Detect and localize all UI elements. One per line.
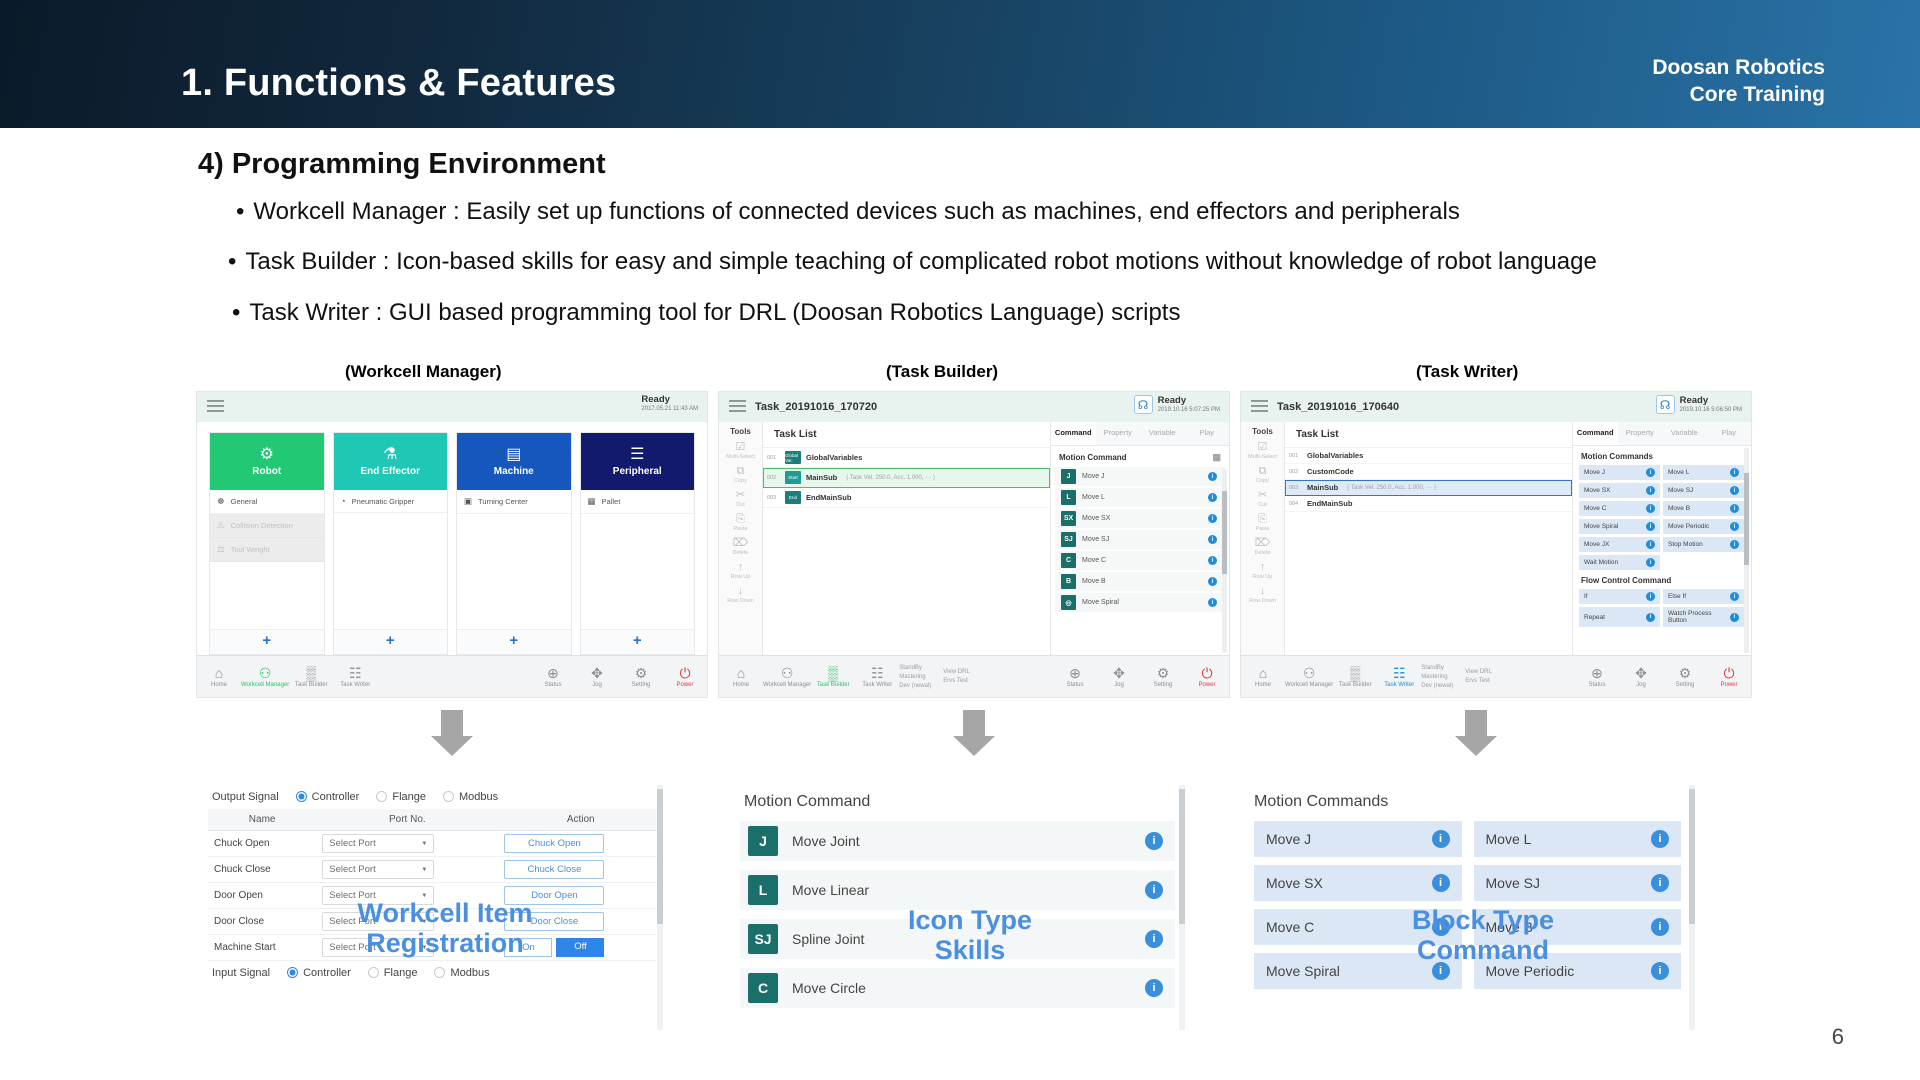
- command-row[interactable]: CMove Ci: [1055, 551, 1225, 570]
- tb-tools-panel: Tools ☑Multi-Select⧉Copy✂Cut⎘Paste⌦Delet…: [719, 422, 763, 655]
- task-row-number: 004: [1289, 501, 1302, 507]
- brand-line-1: Doosan Robotics: [1652, 55, 1825, 82]
- task-list-row[interactable]: 003MainSub( Task Vel. 250.0, Acc. 1.000,…: [1285, 480, 1572, 496]
- wcm-card-item[interactable]: ☸General: [210, 490, 324, 514]
- command-block[interactable]: Move Li: [1663, 465, 1744, 480]
- tw-tools-header: Tools: [1252, 427, 1273, 436]
- nav-status-text: View DRL: [1465, 669, 1492, 675]
- command-label: Move C: [1082, 557, 1202, 564]
- task-row-meta: ( Task Vel. 250.0, Acc. 1.000, ··· ): [1347, 485, 1436, 491]
- task-row-name: CustomCode: [1307, 467, 1354, 476]
- brand-line-2: Core Training: [1652, 82, 1825, 109]
- peripheral-icon: ☰: [630, 447, 644, 463]
- nav-item-home[interactable]: ⌂Home: [197, 666, 241, 688]
- tw-flow-header: Flow Control Command: [1573, 570, 1751, 589]
- nav-item-task-writer[interactable]: ☷Task Writer: [1377, 666, 1421, 688]
- command-block[interactable]: Wait Motioni: [1579, 555, 1660, 570]
- tb-scrollbar[interactable]: [1222, 469, 1227, 653]
- wcm-card-item[interactable]: ▣Turning Center: [457, 490, 571, 514]
- command-row[interactable]: LMove Li: [1055, 488, 1225, 507]
- wcm-card-header[interactable]: ☰Peripheral: [581, 433, 695, 490]
- tb-section-header: Motion Command ▦: [1051, 446, 1229, 467]
- wcm-card-title: Peripheral: [613, 466, 662, 477]
- nav-item-label: Status: [544, 682, 561, 688]
- nav-item-status[interactable]: ⊕Status: [1575, 666, 1619, 688]
- command-block[interactable]: Move SJi: [1663, 483, 1744, 498]
- tb-status-time: 2019.10.16 5:07:25 PM: [1158, 407, 1220, 414]
- port-select[interactable]: Select Port▼: [322, 834, 434, 853]
- move-spiral-icon: ◎: [1061, 595, 1076, 610]
- task-row-name: MainSub: [806, 473, 837, 482]
- info-icon[interactable]: i: [1730, 592, 1739, 601]
- tool-multi-select[interactable]: ☑Multi-Select: [1248, 442, 1277, 460]
- bullet-text: Task Writer : GUI based programming tool…: [249, 299, 1180, 326]
- nav-item-label: Task Writer: [1384, 682, 1414, 688]
- wcm-status: Ready 2017.05.21 11:43 AM: [641, 395, 698, 413]
- tw-command-list[interactable]: Motion Commands Move JiMove LiMove SXiMo…: [1573, 446, 1751, 655]
- nav-item-task-builder[interactable]: ▒Task Builder: [1333, 666, 1377, 688]
- hamburger-menu-icon[interactable]: [1251, 400, 1268, 415]
- radio-flange-output[interactable]: Flange: [376, 791, 426, 803]
- tool-cut[interactable]: ✂Cut: [726, 490, 755, 508]
- wcm-card-item[interactable]: ⚠Collision Detection: [210, 514, 324, 538]
- info-icon[interactable]: i: [1646, 468, 1655, 477]
- row-down-icon: ↓: [1260, 586, 1266, 597]
- task-list-row[interactable]: 001GlobalVariables: [1285, 448, 1572, 464]
- info-icon[interactable]: i: [1208, 556, 1217, 565]
- tab-command[interactable]: Command: [1051, 422, 1096, 445]
- paste-icon: ⎘: [1258, 514, 1267, 525]
- item-icon: ⚠: [217, 520, 225, 531]
- task-list-row[interactable]: 003EndEndMainSub: [763, 488, 1050, 508]
- tool-row-up[interactable]: ↑Row Up: [1248, 562, 1277, 580]
- radio-label: Controller: [303, 967, 351, 979]
- radio-label: Controller: [312, 791, 360, 803]
- tab-variable[interactable]: Variable: [1662, 422, 1707, 445]
- tb-tasklist-panel: Task List 001Global Var.GlobalVariables0…: [763, 422, 1051, 655]
- tw-scrollbar[interactable]: [1744, 448, 1749, 653]
- item-label: Pneumatic Gripper: [352, 497, 415, 506]
- action-button[interactable]: Chuck Close: [504, 860, 604, 879]
- page-title: 1. Functions & Features: [181, 62, 616, 105]
- tw-tasklist-panel: Task List 001GlobalVariables002CustomCod…: [1285, 422, 1573, 655]
- nav-item-task-builder[interactable]: ▒Task Builder: [811, 666, 855, 688]
- nav-item-task-builder[interactable]: ▒Task Builder: [289, 666, 333, 688]
- nav-status-text: Ervs Test: [943, 678, 970, 684]
- nav-item-task-writer[interactable]: ☷Task Writer: [855, 666, 899, 688]
- info-icon[interactable]: i: [1730, 504, 1739, 513]
- wcm-add-button[interactable]: +: [457, 629, 571, 654]
- command-block[interactable]: Ifi: [1579, 589, 1660, 604]
- wcm-card[interactable]: ☰Peripheral▦Pallet+: [580, 432, 696, 655]
- info-icon[interactable]: i: [1145, 979, 1163, 997]
- command-block[interactable]: Move JXi: [1579, 537, 1660, 552]
- nav-item-label: Power: [676, 682, 693, 688]
- command-block-label: Move SJ: [1486, 875, 1540, 891]
- tb-status-label: Ready: [1158, 396, 1220, 407]
- info-icon[interactable]: i: [1432, 830, 1450, 848]
- motion-command-row[interactable]: CMove Circlei: [740, 968, 1175, 1008]
- off-button[interactable]: Off: [556, 938, 604, 957]
- tool-copy[interactable]: ⧉Copy: [726, 466, 755, 484]
- down-arrow-icon: [1455, 710, 1497, 756]
- info-icon[interactable]: i: [1651, 874, 1669, 892]
- wcm-status-label: Ready: [641, 395, 698, 406]
- radio-modbus-output[interactable]: Modbus: [443, 791, 498, 803]
- command-block[interactable]: Move SJi: [1474, 865, 1682, 901]
- port-select-value: Select Port: [329, 838, 375, 849]
- command-block-label: Move SX: [1584, 487, 1610, 494]
- move-sj-icon: SJ: [1061, 532, 1076, 547]
- task-list-row[interactable]: 002StartMainSub( Task Vel. 250.0, Acc. 1…: [763, 468, 1050, 488]
- tool-label: Row Down: [727, 598, 754, 604]
- tb-tasklist-header: Task List: [763, 422, 1050, 448]
- tool-label: Cut: [1258, 502, 1267, 508]
- radio-controller-input[interactable]: Controller: [287, 967, 351, 979]
- tab-play[interactable]: Play: [1707, 422, 1752, 445]
- nav-item-label: Task Builder: [1339, 682, 1372, 688]
- info-icon[interactable]: i: [1208, 535, 1217, 544]
- command-block-label: Move J: [1584, 469, 1605, 476]
- command-block-label: Move L: [1486, 831, 1532, 847]
- info-icon[interactable]: i: [1208, 493, 1217, 502]
- workcell-manager-icon: ⚇: [781, 666, 794, 680]
- command-block[interactable]: Move Ji: [1579, 465, 1660, 480]
- info-icon[interactable]: i: [1730, 540, 1739, 549]
- nav-item-label: Setting: [1154, 682, 1173, 688]
- motion-command-row[interactable]: LMove Lineari: [740, 870, 1175, 910]
- task-writer-icon: ☷: [349, 666, 362, 680]
- item-icon: ◔: [341, 496, 346, 506]
- tool-label: Delete: [1255, 550, 1271, 556]
- nav-status-text: Dev (newal): [899, 683, 931, 689]
- tw-status: ☊ Ready 2019.10.16 5:06:50 PM: [1656, 395, 1742, 414]
- move-sx-icon: SX: [1061, 511, 1076, 526]
- item-icon: ☸: [217, 496, 225, 507]
- tool-label: Delete: [733, 550, 749, 556]
- robot-status-icon: ☊: [1134, 395, 1153, 414]
- command-label: Move L: [1082, 494, 1202, 501]
- nav-item-setting[interactable]: ⚙Setting: [1663, 666, 1707, 688]
- hamburger-menu-icon[interactable]: [729, 400, 746, 415]
- info-icon[interactable]: i: [1646, 540, 1655, 549]
- tool-label: Paste: [733, 526, 747, 532]
- info-icon[interactable]: i: [1730, 486, 1739, 495]
- tab-command[interactable]: Command: [1573, 422, 1618, 445]
- wcm-add-button[interactable]: +: [581, 629, 695, 654]
- wcm-card[interactable]: ⚙Robot☸General⚠Collision Detection⚖Tool …: [209, 432, 325, 655]
- command-block[interactable]: Move Periodici: [1663, 519, 1744, 534]
- tool-paste[interactable]: ⎘Paste: [1248, 514, 1277, 532]
- tb-task-title: Task_20191016_170720: [755, 401, 877, 413]
- cell-name: Machine Start: [208, 935, 316, 961]
- cell-name: Chuck Close: [208, 857, 316, 883]
- tab-property[interactable]: Property: [1096, 422, 1141, 445]
- setting-icon: ⚙: [635, 666, 648, 680]
- command-block[interactable]: Move Ji: [1254, 821, 1462, 857]
- item-label: Pallet: [602, 497, 621, 506]
- command-block-label: Move SJ: [1668, 487, 1693, 494]
- row-down-icon: ↓: [738, 586, 744, 597]
- info-icon[interactable]: i: [1208, 598, 1217, 607]
- tb-command-panel: CommandPropertyVariablePlay Motion Comma…: [1051, 422, 1229, 655]
- tb-tab-strip: CommandPropertyVariablePlay: [1051, 422, 1229, 446]
- radio-label: Modbus: [459, 791, 498, 803]
- nav-item-workcell-manager[interactable]: ⚇Workcell Manager: [763, 666, 811, 688]
- nav-item-jog[interactable]: ✥Jog: [1619, 666, 1663, 688]
- detail1-scrollbar[interactable]: [657, 785, 663, 1030]
- item-icon: ⚖: [217, 544, 225, 555]
- tb-status: ☊ Ready 2019.10.16 5:07:25 PM: [1134, 395, 1220, 414]
- tool-label: Row Up: [731, 574, 751, 580]
- workcell-manager-icon: ⚇: [1303, 666, 1316, 680]
- delete-icon: ⌦: [733, 538, 749, 549]
- tool-delete[interactable]: ⌦Delete: [726, 538, 755, 556]
- motion-command-row[interactable]: JMove Jointi: [740, 821, 1175, 861]
- cell-name: Chuck Open: [208, 831, 316, 857]
- move-circle-icon: C: [748, 973, 778, 1003]
- item-icon: ▦: [588, 496, 596, 507]
- cut-icon: ✂: [736, 490, 745, 501]
- bullet-task-builder: •Task Builder : Icon-based skills for ea…: [228, 248, 1597, 276]
- nav-item-workcell-manager[interactable]: ⚇Workcell Manager: [241, 666, 289, 688]
- info-icon[interactable]: i: [1646, 522, 1655, 531]
- cell-name: Door Close: [208, 909, 316, 935]
- item-label: General: [231, 497, 258, 506]
- task-row-number: 003: [1289, 485, 1302, 491]
- tab-property[interactable]: Property: [1618, 422, 1663, 445]
- wcm-card-item[interactable]: ▦Pallet: [581, 490, 695, 514]
- tool-row-down[interactable]: ↓Row Down: [1248, 586, 1277, 604]
- nav-item-power[interactable]: ⏻Power: [663, 666, 707, 688]
- motion-command-label: Move Joint: [792, 833, 1131, 849]
- nav-item-workcell-manager[interactable]: ⚇Workcell Manager: [1285, 666, 1333, 688]
- tab-play[interactable]: Play: [1185, 422, 1230, 445]
- tw-bottom-nav: ⌂Home⚇Workcell Manager▒Task Builder☷Task…: [1241, 655, 1751, 697]
- wcm-card-header[interactable]: ⚗End Effector: [334, 433, 448, 490]
- command-block-label: Move Spiral: [1266, 963, 1340, 979]
- command-block-label: Move C: [1266, 919, 1314, 935]
- bullet-marker: •: [236, 198, 244, 226]
- tool-cut[interactable]: ✂Cut: [1248, 490, 1277, 508]
- radio-label: Flange: [392, 791, 426, 803]
- info-icon[interactable]: i: [1208, 514, 1217, 523]
- command-block[interactable]: Else Ifi: [1663, 589, 1744, 604]
- move-j-icon: J: [1061, 469, 1076, 484]
- nav-item-jog[interactable]: ✥Jog: [1097, 666, 1141, 688]
- output-signal-row: Output Signal Controller Flange Modbus: [208, 785, 663, 809]
- tw-motion-header: Motion Commands: [1573, 446, 1751, 465]
- nav-item-label: Jog: [1114, 682, 1124, 688]
- slide-header: 1. Functions & Features Doosan Robotics …: [0, 0, 1920, 128]
- table-row: Chuck CloseSelect Port▼Chuck Close: [208, 857, 663, 883]
- command-block[interactable]: Watch Process Buttoni: [1663, 607, 1744, 627]
- info-icon[interactable]: i: [1145, 832, 1163, 850]
- workcell-manager-icon: ⚇: [259, 666, 272, 680]
- nav-item-task-writer[interactable]: ☷Task Writer: [333, 666, 377, 688]
- tb-topbar: Task_20191016_170720 ☊ Ready 2019.10.16 …: [719, 392, 1229, 422]
- info-icon[interactable]: i: [1145, 881, 1163, 899]
- wcm-add-button[interactable]: +: [210, 629, 324, 654]
- command-block-label: Move J: [1266, 831, 1311, 847]
- tool-multi-select[interactable]: ☑Multi-Select: [726, 442, 755, 460]
- wcm-status-time: 2017.05.21 11:43 AM: [641, 406, 698, 413]
- task-list-row[interactable]: 002CustomCode: [1285, 464, 1572, 480]
- wcm-card-title: Robot: [252, 466, 281, 477]
- task-list-row[interactable]: 004EndMainSub: [1285, 496, 1572, 512]
- wcm-card[interactable]: ⚗End Effector◔Pneumatic Gripper+: [333, 432, 449, 655]
- home-icon: ⌂: [215, 666, 223, 680]
- wcm-card-title: Machine: [494, 466, 534, 477]
- home-icon: ⌂: [1259, 666, 1267, 680]
- nav-item-label: Task Writer: [340, 682, 370, 688]
- copy-icon: ⧉: [1259, 466, 1267, 477]
- command-label: Move SJ: [1082, 536, 1202, 543]
- nav-item-status[interactable]: ⊕Status: [531, 666, 575, 688]
- action-button[interactable]: Chuck Open: [504, 834, 604, 853]
- command-block[interactable]: Move Li: [1474, 821, 1682, 857]
- screenshot-task-writer: Task_20191016_170640 ☊ Ready 2019.10.16 …: [1240, 391, 1752, 698]
- info-icon[interactable]: i: [1208, 577, 1217, 586]
- nav-item-label: Setting: [1676, 682, 1695, 688]
- annotation-block-type-command: Block Type Command: [1378, 905, 1588, 965]
- setting-icon: ⚙: [1157, 666, 1170, 680]
- delete-icon: ⌦: [1255, 538, 1271, 549]
- info-icon[interactable]: i: [1646, 504, 1655, 513]
- nav-item-power[interactable]: ⏻Power: [1185, 666, 1229, 688]
- tool-row-up[interactable]: ↑Row Up: [726, 562, 755, 580]
- info-icon[interactable]: i: [1646, 613, 1655, 622]
- down-arrow-icon: [953, 710, 995, 756]
- nav-status-text: StandBy: [899, 665, 931, 671]
- caption-workcell-manager: (Workcell Manager): [345, 362, 502, 382]
- tool-copy[interactable]: ⧉Copy: [1248, 466, 1277, 484]
- nav-item-label: Task Builder: [817, 682, 850, 688]
- output-signal-label: Output Signal: [212, 791, 279, 803]
- port-select[interactable]: Select Port▼: [322, 860, 434, 879]
- cut-icon: ✂: [1258, 490, 1267, 501]
- info-icon[interactable]: i: [1651, 962, 1669, 980]
- grid-view-icon[interactable]: ▦: [1212, 452, 1221, 463]
- task-row-number: 001: [1289, 453, 1302, 459]
- nav-item-status[interactable]: ⊕Status: [1053, 666, 1097, 688]
- spline-joint-icon: SJ: [748, 924, 778, 954]
- command-row[interactable]: JMove Ji: [1055, 467, 1225, 486]
- detail2-scrollbar[interactable]: [1179, 785, 1185, 1030]
- tw-body: Tools ☑Multi-Select⧉Copy✂Cut⎘Paste⌦Delet…: [1241, 422, 1751, 655]
- command-block-label: Wait Motion: [1584, 559, 1618, 566]
- command-row[interactable]: BMove Bi: [1055, 572, 1225, 591]
- command-label: Move Spiral: [1082, 599, 1202, 606]
- command-block[interactable]: Move SXi: [1579, 483, 1660, 498]
- radio-modbus-input[interactable]: Modbus: [434, 967, 489, 979]
- move-linear-icon: L: [748, 875, 778, 905]
- wcm-card-header[interactable]: ▤Machine: [457, 433, 571, 490]
- task-list-row[interactable]: 001Global Var.GlobalVariables: [763, 448, 1050, 468]
- robot-status-icon: ☊: [1656, 395, 1675, 414]
- nav-item-setting[interactable]: ⚙Setting: [1141, 666, 1185, 688]
- tab-variable[interactable]: Variable: [1140, 422, 1185, 445]
- radio-flange-input[interactable]: Flange: [368, 967, 418, 979]
- motion-command-label: Move Circle: [792, 980, 1131, 996]
- info-icon[interactable]: i: [1208, 472, 1217, 481]
- info-icon[interactable]: i: [1145, 930, 1163, 948]
- nav-status-text-column: StandByMasteringDev (newal): [1421, 665, 1453, 689]
- nav-item-label: Jog: [592, 682, 602, 688]
- move-c-icon: C: [1061, 553, 1076, 568]
- command-block[interactable]: Move Ci: [1579, 501, 1660, 516]
- command-block[interactable]: Repeati: [1579, 607, 1660, 627]
- tool-row-down[interactable]: ↓Row Down: [726, 586, 755, 604]
- command-block[interactable]: Move Spirali: [1579, 519, 1660, 534]
- nav-item-home[interactable]: ⌂Home: [1241, 666, 1285, 688]
- brand-block: Doosan Robotics Core Training: [1652, 55, 1825, 109]
- hamburger-menu-icon[interactable]: [207, 400, 224, 415]
- info-icon[interactable]: i: [1651, 830, 1669, 848]
- command-row[interactable]: SJMove SJi: [1055, 530, 1225, 549]
- bullet-marker: •: [232, 299, 240, 327]
- command-block[interactable]: Stop Motioni: [1663, 537, 1744, 552]
- info-icon[interactable]: i: [1730, 468, 1739, 477]
- task-row-name: EndMainSub: [806, 493, 851, 502]
- wcm-card-item[interactable]: ⚖Tool Weight: [210, 538, 324, 562]
- tb-command-list[interactable]: JMove JiLMove LiSXMove SXiSJMove SJiCMov…: [1051, 467, 1229, 655]
- task-row-number: 001: [767, 455, 780, 461]
- nav-status-text-column: View DRLErvs Test: [1465, 669, 1492, 684]
- nav-item-power[interactable]: ⏻Power: [1707, 666, 1751, 688]
- detail3-scrollbar[interactable]: [1689, 785, 1695, 1030]
- nav-item-home[interactable]: ⌂Home: [719, 666, 763, 688]
- item-label: Tool Weight: [231, 545, 270, 554]
- info-icon[interactable]: i: [1730, 613, 1739, 622]
- command-block[interactable]: Move SXi: [1254, 865, 1462, 901]
- power-icon: ⏻: [1723, 666, 1734, 680]
- nav-item-setting[interactable]: ⚙Setting: [619, 666, 663, 688]
- command-block[interactable]: Move Bi: [1663, 501, 1744, 516]
- multi-select-icon: ☑: [1258, 442, 1268, 453]
- wcm-card[interactable]: ▤Machine▣Turning Center+: [456, 432, 572, 655]
- status-icon: ⊕: [1591, 666, 1603, 680]
- info-icon[interactable]: i: [1432, 874, 1450, 892]
- radio-controller-output[interactable]: Controller: [296, 791, 360, 803]
- info-icon[interactable]: i: [1646, 558, 1655, 567]
- info-icon[interactable]: i: [1646, 592, 1655, 601]
- motion-command-label: Move Linear: [792, 882, 1131, 898]
- slide-root: 1. Functions & Features Doosan Robotics …: [0, 0, 1920, 1080]
- wcm-card-row: ⚙Robot☸General⚠Collision Detection⚖Tool …: [197, 422, 707, 655]
- tool-delete[interactable]: ⌦Delete: [1248, 538, 1277, 556]
- tb-tools-header: Tools: [730, 427, 751, 436]
- wcm-card-header[interactable]: ⚙Robot: [210, 433, 324, 490]
- tool-paste[interactable]: ⎘Paste: [726, 514, 755, 532]
- down-arrow-icon: [431, 710, 473, 756]
- command-block-label: Move JX: [1584, 541, 1609, 548]
- info-icon[interactable]: i: [1730, 522, 1739, 531]
- page-number: 6: [1832, 1024, 1844, 1050]
- nav-item-label: Task Writer: [862, 682, 892, 688]
- command-row[interactable]: ◎Move Spirali: [1055, 593, 1225, 612]
- wcm-add-button[interactable]: +: [334, 629, 448, 654]
- command-row[interactable]: SXMove SXi: [1055, 509, 1225, 528]
- task-builder-icon: ▒: [1350, 666, 1360, 680]
- annotation-icon-type-skills: Icon Type Skills: [875, 905, 1065, 965]
- wcm-card-item[interactable]: ◔Pneumatic Gripper: [334, 490, 448, 513]
- nav-item-jog[interactable]: ✥Jog: [575, 666, 619, 688]
- task-row-number: 002: [767, 475, 780, 481]
- move-joint-icon: J: [748, 826, 778, 856]
- info-icon[interactable]: i: [1646, 486, 1655, 495]
- info-icon[interactable]: i: [1651, 918, 1669, 936]
